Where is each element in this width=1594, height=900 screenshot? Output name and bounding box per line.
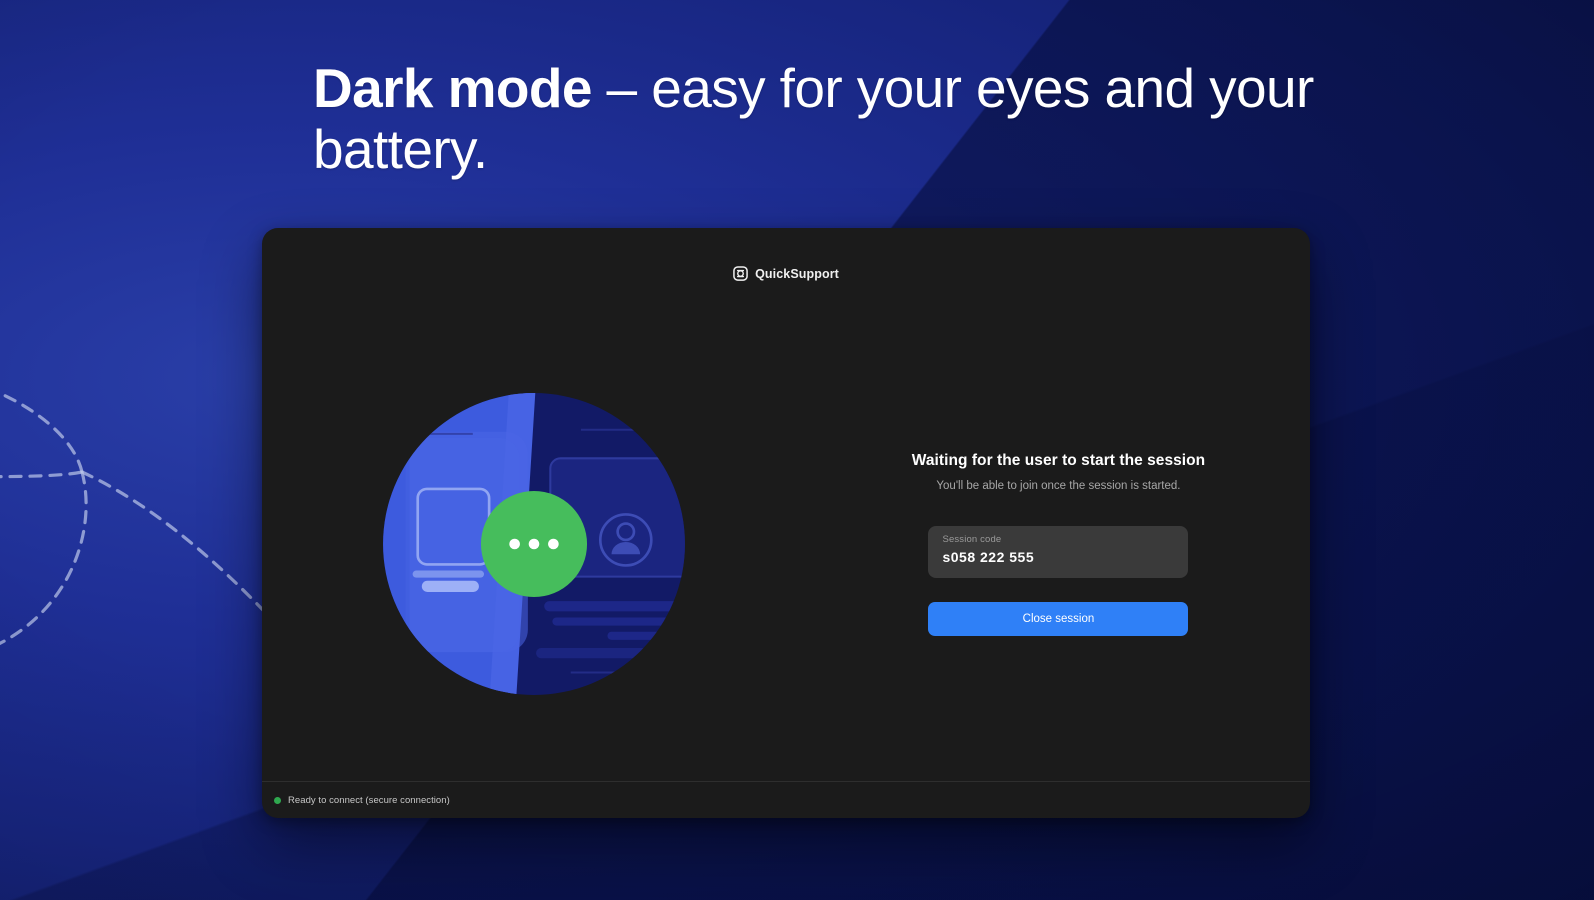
close-session-button[interactable]: Close session bbox=[928, 602, 1188, 636]
card-body: Waiting for the user to start the sessio… bbox=[262, 324, 1310, 764]
brand-name: QuickSupport bbox=[755, 267, 839, 281]
status-bar: Ready to connect (secure connection) bbox=[262, 782, 1310, 818]
panel-title: Waiting for the user to start the sessio… bbox=[912, 452, 1205, 470]
session-code-value: s058 222 555 bbox=[942, 549, 1174, 566]
session-code-field[interactable]: Session code s058 222 555 bbox=[928, 526, 1188, 578]
headline-emphasis: Dark mode bbox=[313, 57, 592, 119]
status-dot-green-icon bbox=[274, 797, 281, 804]
page-headline: Dark mode – easy for your eyes and your … bbox=[313, 58, 1363, 179]
session-code-label: Session code bbox=[942, 534, 1174, 545]
status-text: Ready to connect (secure connection) bbox=[288, 795, 450, 806]
quicksupport-icon bbox=[733, 266, 748, 281]
quicksupport-window: QuickSupport bbox=[262, 228, 1310, 818]
brand-header: QuickSupport bbox=[262, 266, 1310, 281]
illustration-column bbox=[262, 391, 807, 697]
session-waiting-illustration bbox=[381, 391, 687, 697]
session-panel: Waiting for the user to start the sessio… bbox=[927, 452, 1189, 636]
session-panel-column: Waiting for the user to start the sessio… bbox=[807, 452, 1310, 636]
panel-subtitle: You'll be able to join once the session … bbox=[936, 480, 1180, 492]
